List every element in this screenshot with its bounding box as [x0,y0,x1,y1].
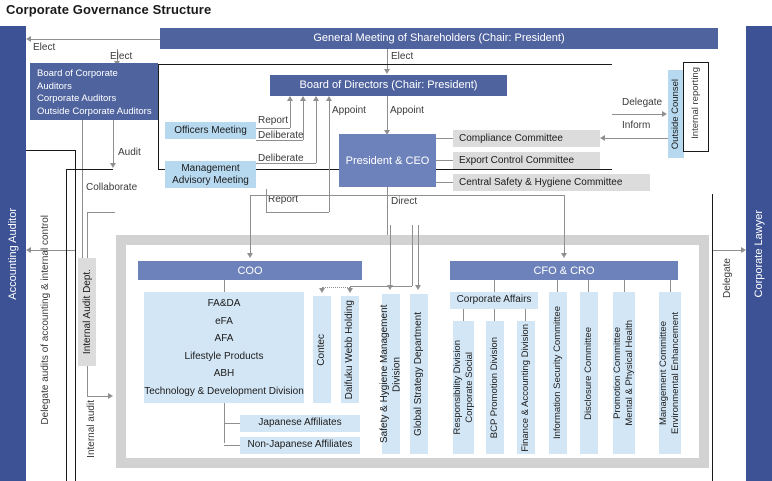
finance-accounting-division-box: Finance & Accounting Division [517,321,535,454]
bcp-promotion-division-label: BCP Promotion Division [489,337,501,438]
cfo-cro-header-label: CFO & CRO [533,265,594,277]
president-ceo-label: President & CEO [346,155,430,167]
daifuku-webb-arrow-icon [347,288,353,293]
information-security-committee-label: Information Security Committee [552,306,564,439]
safety-hygiene-management-division-box: Safety & Hygiene Management Division [382,294,400,454]
mental-health-connector [624,280,625,292]
coo-feed-v1 [250,195,251,255]
global-strategy-department-box: Global Strategy Department [410,294,428,454]
audit-arrow-icon [110,163,116,168]
board-corporate-auditors-line2: Auditors [37,81,158,94]
report-arrow-icon [287,96,293,101]
corporate-lawyer-frame-line [712,194,713,481]
internal-audit-dept-box: Internal Audit Dept. [78,258,96,366]
report-bottom-arrow-icon [326,96,332,101]
central-safety-hygiene-committee-label: Central Safety & Hygiene Committee [459,177,622,188]
internal-audit-arrow-icon [108,393,113,399]
internal-audit-frame-vline [66,169,67,481]
governance-diagram: Corporate Governance Structure Accountin… [0,0,772,481]
elect-left-label: Elect [33,42,55,53]
management-advisory-meeting-line2: Advisory Meeting [172,175,249,187]
delegate-audits-label: Delegate audits of accounting & internal… [40,215,51,430]
accounting-auditor-label: Accounting Auditor [7,208,19,300]
environmental-enhancement-management-committee-box: Environmental Enhancement Management Com… [659,292,681,454]
contec-connector-v [322,287,323,288]
global-strategy-arrow-icon [415,285,421,290]
contec-arrow-icon [319,288,325,293]
delegate-audits-connector [30,250,75,251]
internal-audit-dept-top-hconnector [87,212,115,213]
export-control-committee-label: Export Control Committee [459,155,574,166]
bcp-division-connector [494,309,495,321]
daifuku-webb-holding-label: Daifuku Webb Holding [344,300,357,399]
coo-division-1: eFA [215,313,233,331]
coo-divisions-connector [224,280,225,292]
committee3-connector [436,182,453,183]
general-meeting-shareholders-label: General Meeting of Shareholders (Chair: … [313,32,564,46]
coo-division-4: ABH [214,365,235,383]
management-advisory-meeting-line1: Management [181,163,239,175]
cfo-feed-v [564,195,565,255]
elect-left-connector [30,39,160,40]
coo-cfo-feed-h [250,195,564,196]
report-bottom-connector-h [266,212,329,213]
collaborate-connector [82,120,83,270]
info-security-connector [557,280,558,292]
appoint-left-label: Appoint [332,105,366,116]
delegate-lawyer-connector [713,250,743,251]
delegate-counsel-connector [612,114,664,115]
japanese-affiliates-box: Japanese Affiliates [240,415,360,432]
affiliates-connector-h1 [224,423,240,424]
inform-arrow-icon [600,135,605,141]
delegate-lawyer-arrow-icon [741,247,746,253]
coo-division-3: Lifestyle Products [185,348,264,366]
general-meeting-shareholders-box: General Meeting of Shareholders (Chair: … [160,28,718,49]
csr-division-line2: Responsibility Division [452,340,464,435]
cfo-cro-header-box: CFO & CRO [450,261,678,280]
deliberate2-arrow-icon [313,96,319,101]
affiliates-connector-h2 [224,445,240,446]
environmental-line2: Management Committee [658,321,670,425]
committee2-connector [436,160,453,161]
environmental-line1: Environmental Enhancement [670,312,682,434]
coo-divisions-box: FA&DA eFA AFA Lifestyle Products ABH Tec… [144,292,304,403]
disclosure-connector [588,280,589,292]
mental-health-line2: Promotion Committee [612,327,624,419]
delegate-label: Delegate [622,97,662,108]
contec-box: Contec [313,296,331,403]
compliance-committee-label: Compliance Committee [459,133,563,144]
disclosure-committee-label: Disclosure Committee [583,327,595,420]
report-bottom-left-v [266,189,267,212]
coo-header-box: COO [138,261,362,280]
coo-division-2: AFA [215,330,234,348]
daifuku-webb-connector-v2 [412,225,413,286]
information-security-committee-box: Information Security Committee [549,292,567,454]
delegate-counsel-arrow-icon [662,111,667,117]
delegate-lawyer-label: Delegate [722,258,733,303]
outside-counsel-box: Outside Counsel [668,70,684,158]
coo-division-0: FA&DA [208,295,241,313]
elect-mid-label: Elect [110,51,132,62]
board-corporate-auditors-line4: Outside Corporate Auditors [37,106,158,119]
compliance-committee-box: Compliance Committee [453,130,600,147]
audit-connector [113,120,114,165]
mental-physical-health-promotion-committee-box: Mental & Physical Health Promotion Commi… [613,292,635,454]
internal-audit-dept-label: Internal Audit Dept. [82,269,93,354]
corporate-lawyer-label: Corporate Lawyer [753,210,765,297]
csr-division-connector [463,309,464,321]
contec-label: Contec [316,334,329,366]
auditors-scope-frame-top [158,64,612,65]
coo-header-label: COO [237,265,262,277]
elect-left-arrow-icon [26,36,31,42]
report-top-label: Report [258,115,288,126]
board-of-directors-label: Board of Directors (Chair: President) [300,79,478,93]
audit-label: Audit [118,147,141,158]
accounting-auditor-bar: Accounting Auditor [0,26,26,481]
non-japanese-affiliates-label: Non-Japanese Affiliates [248,439,353,452]
report-connector-v [290,97,291,128]
appoint-right-label: Appoint [390,105,424,116]
president-ceo-box: President & CEO [339,134,436,187]
internal-audit-label: Internal audit [86,400,97,463]
elect-right-label: Elect [391,51,413,62]
internal-audit-dept-bottom-connector [87,366,88,396]
corporate-lawyer-bar: Corporate Lawyer [746,26,772,481]
coo-division-5: Technology & Development Division [144,383,304,401]
finance-accounting-division-label: Finance & Accounting Division [520,324,532,452]
appoint-connector [387,96,388,132]
deliberate2-label: Deliberate [258,153,304,164]
corporate-social-responsibility-division-box: Corporate Social Responsibility Division [453,321,474,454]
safety-hygiene-feed-v [390,225,391,287]
direct-label: Direct [391,196,417,207]
board-corporate-auditors-line3: Corporate Auditors [37,93,158,106]
board-corporate-auditors-line1: Board of Corporate [37,68,158,81]
internal-audit-dept-top-connector [87,212,88,258]
disclosure-committee-box: Disclosure Committee [580,292,598,454]
global-strategy-feed-v [418,225,419,287]
japanese-affiliates-label: Japanese Affiliates [258,417,341,430]
outside-counsel-label: Outside Counsel [670,79,681,149]
global-strategy-department-label: Global Strategy Department [413,312,426,436]
corporate-affairs-connector [494,280,495,292]
deliberate2-connector-v [316,97,317,163]
accounting-auditor-frame [26,150,76,481]
officers-meeting-box: Officers Meeting [165,122,256,139]
cfo-feed-arrow-icon [561,253,567,258]
delegate-audits-arrow-icon [26,247,31,253]
officers-meeting-label: Officers Meeting [174,125,247,137]
internal-reporting-label: Internal reporting [690,67,701,144]
corporate-affairs-box: Corporate Affairs [450,292,538,309]
corporate-affairs-label: Corporate Affairs [457,294,532,307]
internal-audit-out-connector [87,396,110,397]
page-title: Corporate Governance Structure [6,2,211,17]
daifuku-webb-holding-box: Daifuku Webb Holding [341,296,359,403]
daifuku-webb-connector-h [350,286,412,287]
safety-hygiene-management-division-label: Safety & Hygiene Management Division [379,294,404,454]
mental-health-line1: Mental & Physical Health [624,320,636,426]
management-advisory-meeting-box: Management Advisory Meeting [165,161,256,188]
inform-label: Inform [622,120,650,131]
board-corporate-auditors-box: Board of Corporate Auditors Corporate Au… [30,63,158,120]
non-japanese-affiliates-box: Non-Japanese Affiliates [240,437,360,454]
board-of-directors-box: Board of Directors (Chair: President) [270,75,507,96]
csr-division-line1: Corporate Social [464,352,476,423]
deliberate1-arrow-icon [300,96,306,101]
bcp-promotion-division-box: BCP Promotion Division [486,321,504,454]
finance-division-connector [525,309,526,321]
deliberate1-label: Deliberate [258,130,304,141]
committee1-connector [436,138,453,139]
export-control-committee-box: Export Control Committee [453,152,600,169]
collaborate-label: Collaborate [86,182,137,193]
central-safety-hygiene-committee-box: Central Safety & Hygiene Committee [453,174,650,191]
safety-hygiene-arrow-icon [387,285,393,290]
inform-connector [604,138,668,139]
internal-audit-frame-line [66,169,113,170]
report-connector-h [256,128,290,129]
environmental-connector [670,280,671,292]
coo-feed-arrow-icon [247,253,253,258]
